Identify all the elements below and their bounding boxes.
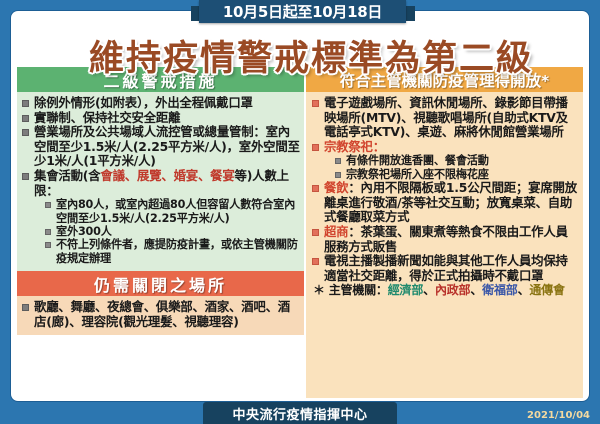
religion-sublist: 有條件開放進香團、餐會活動 宗教祭祀場所入座不限梅花座 [324, 154, 578, 181]
agency-ncc: 通傳會 [529, 283, 564, 297]
religion-label: 宗教祭祀： [324, 139, 385, 154]
level2-measures-list: 除例外情形(如附表），外出全程佩戴口罩 實聯制、保持社交安全距離 營業場所及公共… [21, 96, 300, 265]
list-item: 實聯制、保持社交安全距離 [21, 111, 300, 126]
list-item: 電視主播製播新聞如能與其他工作人員均保持適當社交距離，得於正式拍攝時不戴口罩 [311, 254, 578, 283]
list-item: 歌廳、舞廳、夜總會、俱樂部、酒家、酒吧、酒店(廊)、理容院(觀光理髮、視聽理容) [21, 300, 300, 329]
list-item: 超商：茶葉蛋、關東煮等熱食不限由工作人員服務方式販售 [311, 225, 578, 254]
poster-card: 維持疫情警戒標準為第二級 二級警戒措施 除例外情形(如附表），外出全程佩戴口罩 … [11, 11, 589, 401]
list-item: 宗教祭祀場所入座不限梅花座 [335, 168, 578, 181]
permitted-open-panel: 電子遊戲場所、資訊休閒場所、錄影節目帶播映場所(MTV)、視聽歌唱場所(自助式K… [306, 92, 583, 304]
convenience-store-text: ：茶葉蛋、關東煮等熱食不限由工作人員服務方式販售 [324, 224, 568, 254]
gathering-sublist: 室內80人，或室內超過80人但容留人數符合室內空間至少1.5米/人(2.25平方… [34, 198, 300, 238]
closed-venues-list: 歌廳、舞廳、夜總會、俱樂部、酒家、酒吧、酒店(廊)、理容院(觀光理髮、視聽理容) [21, 300, 300, 329]
footer-date: 2021/10/04 [527, 410, 590, 421]
permitted-open-list: 電子遊戲場所、資訊休閒場所、錄影節目帶播映場所(MTV)、視聽歌唱場所(自助式K… [311, 96, 578, 283]
right-column: 符合主管機關防疫管理得開放* 電子遊戲場所、資訊休閒場所、錄影節目帶播映場所(M… [306, 67, 583, 398]
list-item: 集會活動(含會議、展覽、婚宴、餐宴等)人數上限： 室內80人，或室內超過80人但… [21, 169, 300, 265]
date-range-banner: 10月5日起至10月18日 [199, 0, 406, 23]
gathering-text-pre: 集會活動(含 [34, 168, 100, 183]
sep-3: 、 [518, 283, 530, 297]
footnote-agencies: ＊ 主管機關：經濟部、內政部、衛福部、通傳會 [311, 283, 578, 298]
ribbon-tab-right [406, 6, 415, 21]
list-item: 電子遊戲場所、資訊休閒場所、錄影節目帶播映場所(MTV)、視聽歌唱場所(自助式K… [311, 96, 578, 140]
dining-label: 餐飲 [324, 180, 348, 195]
left-column: 二級警戒措施 除例外情形(如附表），外出全程佩戴口罩 實聯制、保持社交安全距離 … [17, 67, 304, 398]
list-item: 室外300人 [45, 225, 300, 238]
convenience-store-label: 超商 [324, 224, 348, 239]
dining-text: ：內用不限隔板或1.5公尺間距；宴席開放離桌進行敬酒/茶等社交互動；放寬桌菜、自… [324, 180, 577, 224]
poster-root: 維持疫情警戒標準為第二級 二級警戒措施 除例外情形(如附表），外出全程佩戴口罩 … [0, 0, 600, 424]
agency-mohw: 衛福部 [482, 283, 517, 297]
list-item: 宗教祭祀： 有條件開放進香團、餐會活動 宗教祭祀場所入座不限梅花座 [311, 140, 578, 181]
footer-organization: 中央流行疫情指揮中心 [203, 402, 397, 424]
content-columns: 二級警戒措施 除例外情形(如附表），外出全程佩戴口罩 實聯制、保持社交安全距離 … [14, 67, 586, 398]
agency-moi: 內政部 [435, 283, 470, 297]
list-item: 有條件開放進香團、餐會活動 [335, 154, 578, 167]
gathering-text-highlight: 會議、展覽、婚宴、餐宴 [100, 168, 234, 183]
list-item: 室內80人，或室內超過80人但容留人數符合室內空間至少1.5米/人(2.25平方… [45, 198, 300, 225]
sep-1: 、 [423, 283, 435, 297]
sep-2: 、 [470, 283, 482, 297]
level2-measures-panel: 除例外情形(如附表），外出全程佩戴口罩 實聯制、保持社交安全距離 營業場所及公共… [17, 92, 304, 271]
list-item: 除例外情形(如附表），外出全程佩戴口罩 [21, 96, 300, 111]
title-block: 維持疫情警戒標準為第二級 [22, 33, 589, 77]
list-item: 營業場所及公共場域人流控管或總量管制：室內空間至少1.5米/人(2.25平方米/… [21, 125, 300, 169]
section-header-closed-venues: 仍需關閉之場所 [17, 271, 304, 296]
footnote-prefix: ＊ 主管機關： [313, 283, 388, 297]
list-item: 餐飲：內用不限隔板或1.5公尺間距；宴席開放離桌進行敬酒/茶等社交互動；放寬桌菜… [311, 181, 578, 225]
closed-venues-panel: 歌廳、舞廳、夜總會、俱樂部、酒家、酒吧、酒店(廊)、理容院(觀光理髮、視聽理容) [17, 296, 304, 335]
agency-moea: 經濟部 [388, 283, 423, 297]
list-item: 不符上列條件者，應提防疫計畫，或依主管機關防疫規定辦理 [45, 238, 300, 265]
gathering-exception-list: 不符上列條件者，應提防疫計畫，或依主管機關防疫規定辦理 [34, 238, 300, 265]
page-title: 維持疫情警戒標準為第二級 [89, 30, 533, 81]
